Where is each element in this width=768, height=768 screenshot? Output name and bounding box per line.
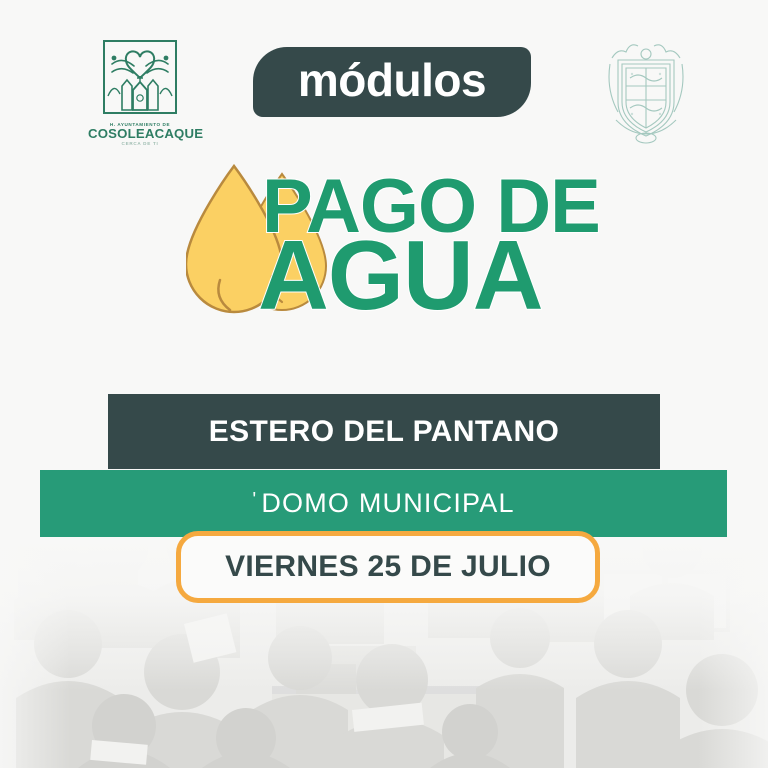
venue-label: 'DOMO MUNICIPAL (252, 488, 514, 519)
headline-line-2: AGUA (258, 233, 692, 317)
date-banner: VIERNES 25 DE JULIO (176, 531, 600, 603)
location-label: ESTERO DEL PANTANO (209, 415, 560, 449)
poster: H. AYUNTAMIENTO DE COSOLEACAQUE CERCA DE… (0, 0, 768, 768)
logo-line-sub: CERCA DE TI (88, 141, 192, 146)
water-commission-seal (598, 38, 694, 148)
modulos-badge: módulos (253, 47, 531, 117)
cosoleacaque-coat-of-arms-icon (88, 40, 192, 116)
modulos-badge-label: módulos (298, 57, 486, 103)
location-banner: ESTERO DEL PANTANO (108, 394, 660, 469)
date-label: VIERNES 25 DE JULIO (225, 550, 551, 584)
headline: PAGO DE AGUA (262, 174, 692, 318)
logo-line-main: COSOLEACAQUE (88, 127, 192, 140)
cosoleacaque-logo: H. AYUNTAMIENTO DE COSOLEACAQUE CERCA DE… (88, 40, 192, 144)
venue-text: DOMO MUNICIPAL (261, 488, 514, 518)
water-commission-seal-icon (598, 38, 694, 148)
title-block: PAGO DE AGUA (0, 158, 768, 348)
venue-tick: ' (252, 489, 257, 511)
venue-banner: 'DOMO MUNICIPAL (40, 470, 727, 537)
